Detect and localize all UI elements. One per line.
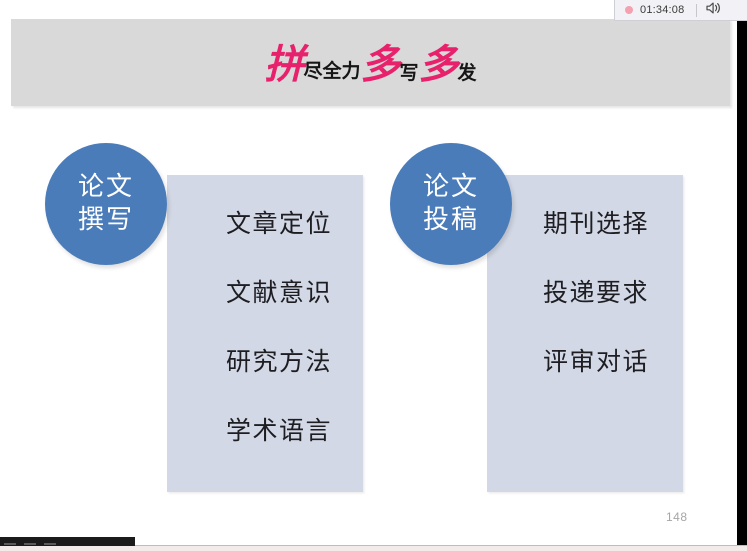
list-item: 评审对话 xyxy=(487,349,683,418)
list-item: 文献意识 xyxy=(167,280,363,349)
list-item: 研究方法 xyxy=(167,349,363,418)
list-item: 期刊选择 xyxy=(487,211,683,280)
title-segment-2: 尽全力 xyxy=(303,62,360,81)
right-black-gutter xyxy=(737,0,747,545)
slide-title: 拼 尽全力 多 写 多 发 xyxy=(264,45,476,85)
content-box-submission: 期刊选择 投递要求 评审对话 xyxy=(487,175,683,492)
page-number: 148 xyxy=(666,510,688,524)
recording-timer-overlay[interactable]: 01:34:08 xyxy=(614,0,747,21)
title-segment-4: 写 xyxy=(399,64,418,83)
elapsed-time-label: 01:34:08 xyxy=(640,4,684,16)
list-item: 学术语言 xyxy=(167,418,363,487)
list-item: 投递要求 xyxy=(487,280,683,349)
circle-badge-submission: 论文 投稿 xyxy=(390,143,512,265)
list-item: 文章定位 xyxy=(167,211,363,280)
circle-label-line2: 投稿 xyxy=(423,204,479,237)
record-dot-icon xyxy=(625,6,633,14)
title-segment-5: 多 xyxy=(419,45,458,85)
title-segment-6: 发 xyxy=(458,64,477,83)
taskbar-tick-marks xyxy=(4,543,124,547)
speaker-on-icon[interactable] xyxy=(706,1,722,20)
title-segment-3: 多 xyxy=(360,45,399,85)
circle-label-line1: 论文 xyxy=(423,171,479,204)
slide-canvas: 拼 尽全力 多 写 多 发 文章定位 文献意识 研究方法 学术语言 期刊选择 投… xyxy=(0,0,737,537)
circle-label-line2: 撰写 xyxy=(78,204,134,237)
circle-label-line1: 论文 xyxy=(78,171,134,204)
slide-title-banner: 拼 尽全力 多 写 多 发 xyxy=(11,19,730,106)
title-segment-1: 拼 xyxy=(264,45,303,85)
divider xyxy=(696,4,697,17)
circle-badge-writing: 论文 撰写 xyxy=(45,143,167,265)
content-box-writing: 文章定位 文献意识 研究方法 学术语言 xyxy=(167,175,363,492)
